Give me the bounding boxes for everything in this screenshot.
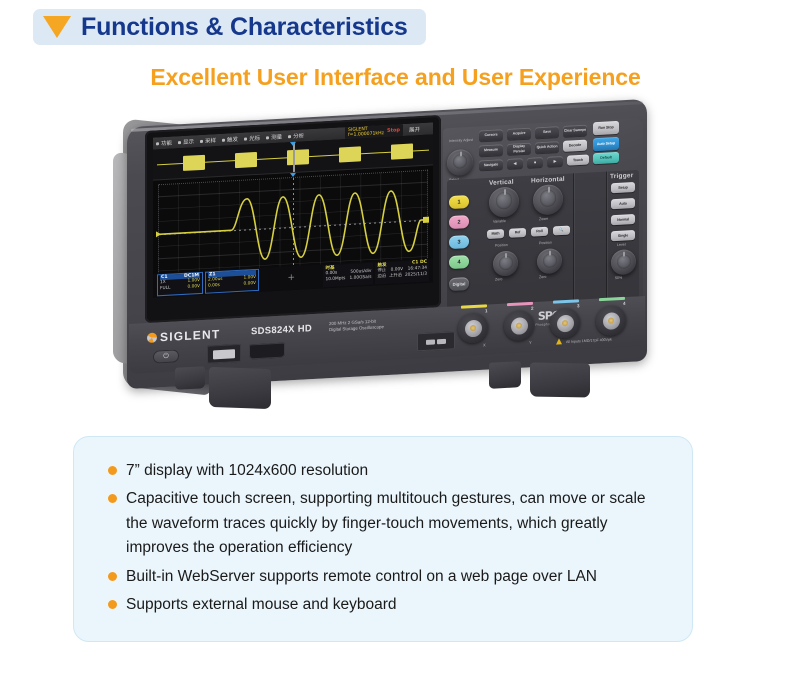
scope-menu-label: 触发 (227, 135, 238, 144)
screen-bezel: 功能 显示 采样 触发 光标 测量 分析 SIGLENT f=1.000071k… (145, 115, 441, 323)
trigger-state-label: Stop (387, 127, 400, 134)
run-stop-button[interactable]: Run Stop (593, 121, 619, 135)
bnc-connector-3[interactable] (550, 307, 580, 339)
clear-sweeps-button[interactable]: Clear Sweeps (563, 125, 587, 137)
bullet-dot-icon (108, 466, 117, 475)
trigger-type: 边沿 (377, 274, 386, 281)
trigger-single-button[interactable]: Single (611, 230, 635, 241)
knob-notch-icon (623, 251, 625, 257)
trigger-marker-icon (290, 173, 296, 177)
bullet-dot-icon (108, 572, 117, 581)
bnc-1-sublabel: X (483, 342, 486, 347)
menu-bullet-icon (266, 136, 269, 139)
bnc-ring (603, 312, 620, 330)
timebase-memdepth: 10.0Mpts (325, 277, 345, 285)
scope-menu-item-6[interactable]: 分析 (288, 131, 304, 140)
knob-notch-icon (505, 252, 507, 258)
menu-bullet-icon (200, 139, 203, 142)
bnc-input-note: All Inputs 1MΩ/17pF 400Vpk (566, 338, 612, 344)
channel-4-color-band (599, 297, 625, 301)
list-item: Built-in WebServer supports remote contr… (108, 565, 662, 589)
scope-menu-label: 光标 (249, 134, 260, 143)
channel1-settings-box[interactable]: C1 DC1M 1X 1.00V FULL 0.00V (157, 272, 203, 296)
overview-pulse (391, 144, 413, 160)
bnc-ring (557, 314, 574, 332)
trigger-row: 边沿 上升沿 2025/11/3 (377, 272, 427, 281)
scope-menu-item-2[interactable]: 采样 (200, 136, 216, 145)
bnc-connector-row: 1 X 2 Y 3 4 All Inputs 1MΩ/17pF 400Vpk (453, 296, 643, 364)
model-number: SDS824X HD (251, 323, 312, 337)
overview-pulse (235, 152, 257, 168)
scope-menu-item-0[interactable]: 功能 (156, 139, 172, 148)
list-item: Capacitive touch screen, supporting mult… (108, 487, 662, 560)
power-button[interactable]: ⏻ (153, 349, 179, 363)
bnc-3-number: 3 (577, 303, 580, 308)
search-button[interactable]: 🔍 (553, 226, 570, 236)
triangle-down-icon (43, 16, 71, 38)
channel-2-button[interactable]: 2 (449, 215, 469, 229)
measure-button[interactable]: Measure (479, 144, 503, 156)
bullet-dot-icon (108, 494, 117, 503)
next-button[interactable]: ▶ (547, 156, 563, 167)
horizontal-zoom-label: Zoom (539, 217, 548, 221)
cursor-crosshair-icon: + (261, 265, 321, 290)
aux-pin (437, 338, 446, 343)
channel-1-color-band (461, 304, 487, 308)
rear-foot-right (489, 361, 521, 389)
scope-run-state[interactable]: 展开 (409, 125, 430, 134)
navigate-button[interactable]: Navigate (479, 159, 503, 170)
zoom-row: 0.00s 0.00V (208, 281, 256, 290)
scope-menu-label: 显示 (183, 137, 194, 146)
channel-2-color-band (507, 302, 533, 306)
bnc-pin (516, 322, 522, 328)
bullet-dot-icon (108, 600, 117, 609)
power-icon: ⏻ (163, 353, 169, 360)
features-panel: 7” display with 1024x600 resolution Capa… (73, 436, 693, 642)
aux-pin (426, 339, 435, 344)
channel1-offset: 0.00V (187, 284, 200, 291)
channel-4-button[interactable]: 4 (449, 255, 469, 269)
trigger-level-50-label: 50% (615, 276, 622, 280)
bnc-connector-4[interactable] (596, 305, 626, 337)
timebase-box[interactable]: 时基 0.00s 500us/div 10.0Mpts 1.00GSa/s (323, 263, 373, 288)
prev-button[interactable]: ◀ (507, 158, 523, 169)
product-specs: 200 MHz 2 GSa/s 12-bit Digital Storage O… (329, 318, 384, 334)
scope-menu-item-5[interactable]: 测量 (266, 133, 282, 142)
quick-action-button[interactable]: Quick Action (535, 141, 559, 153)
math-button[interactable]: Math (487, 229, 504, 239)
overview-pulse (339, 146, 361, 162)
bnc-pin (562, 320, 568, 326)
list-item: Supports external mouse and keyboard (108, 593, 662, 617)
bnc-2-sublabel: Y (529, 340, 532, 345)
bnc-pin (470, 325, 476, 331)
scope-menu-label: 功能 (161, 139, 172, 148)
roll-button[interactable]: Roll (531, 227, 548, 237)
list-item-text: Capacitive touch screen, supporting mult… (126, 490, 646, 556)
menu-bullet-icon (222, 138, 225, 141)
brand-name: SIGLENT (160, 327, 220, 344)
product-photo-oscilloscope: 功能 显示 采样 触发 光标 测量 分析 SIGLENT f=1.000071k… (105, 105, 665, 425)
tilt-stand-right (530, 362, 590, 397)
warning-triangle-icon (556, 338, 562, 344)
knob-notch-icon (549, 250, 551, 256)
section-header-badge: Functions & Characteristics (33, 9, 426, 45)
channel1-bandwidth: FULL (160, 286, 170, 293)
timebase-samplerate: 1.00GSa/s (350, 275, 372, 283)
zoom-offset: 0.00V (243, 281, 256, 288)
bnc-4-number: 4 (623, 301, 626, 306)
usb-contact (213, 349, 235, 359)
list-item: 7” display with 1024x600 resolution (108, 459, 662, 483)
menu-bullet-icon (178, 141, 181, 144)
vertical-variable-label: Variable (493, 219, 506, 224)
trigger-level-label: Level (617, 243, 626, 247)
touch-button[interactable]: Touch (567, 155, 589, 166)
save-button[interactable]: Save (535, 126, 559, 138)
vertical-section-label: Vertical (489, 179, 514, 187)
page-title: Functions & Characteristics (81, 13, 408, 42)
clock-date: 2025/11/3 (405, 272, 427, 280)
cursors-button[interactable]: Cursors (479, 129, 503, 141)
vertical-position-label: Position (495, 243, 508, 248)
menu-bullet-icon (156, 142, 159, 145)
bnc-connector-2[interactable] (504, 310, 534, 342)
siglent-mark-icon (147, 332, 157, 343)
timebase-row: 10.0Mpts 1.00GSa/s (325, 275, 371, 284)
bnc-connector-1[interactable] (458, 312, 488, 344)
rear-foot-left (175, 366, 205, 390)
scope-menu-item-3[interactable]: 触发 (222, 135, 238, 144)
overview-pulse (287, 149, 309, 165)
trigger-slope: 上升沿 (389, 274, 402, 281)
zoom-delay: 0.00s (208, 283, 220, 290)
trigger-setup-button[interactable]: Setup (611, 182, 635, 193)
bnc-2-number: 2 (531, 306, 534, 311)
bnc-ring (465, 319, 482, 337)
scope-menu-item-1[interactable]: 显示 (178, 137, 194, 146)
trigger-auto-button[interactable]: Auto (611, 198, 635, 209)
horizontal-zero-label: Zero (539, 275, 546, 279)
trigger-normal-button[interactable]: Normal (611, 214, 635, 225)
zoom-settings-box[interactable]: Z1 2.00us 1.00V 0.00s 0.00V (205, 269, 259, 294)
acquire-button[interactable]: Acquire (507, 128, 531, 140)
overview-pulse (183, 155, 205, 171)
trigger-section-label: Trigger (610, 172, 633, 180)
channel-1-button[interactable]: 1 (449, 195, 469, 209)
knob-notch-icon (548, 186, 550, 193)
list-item-text: Supports external mouse and keyboard (126, 596, 397, 613)
channel-3-color-band (553, 299, 579, 303)
menu-bullet-icon (288, 135, 291, 138)
default-button[interactable]: Default (593, 152, 619, 164)
features-list: 7” display with 1024x600 resolution Capa… (108, 459, 662, 618)
section-subtitle: Excellent User Interface and User Experi… (0, 64, 791, 91)
channel1-row: FULL 0.00V (160, 284, 200, 292)
vertical-zero-label: Zero (495, 277, 502, 281)
display-persist-button[interactable]: Display Persist (507, 143, 531, 155)
scope-menu-label: 分析 (293, 131, 304, 140)
brand-logo: SIGLENT (147, 327, 220, 345)
channel-3-button[interactable]: 3 (449, 235, 469, 249)
hdmi-port (249, 343, 285, 360)
digital-button[interactable]: Digital (449, 277, 469, 291)
list-item-text: Built-in WebServer supports remote contr… (126, 568, 597, 585)
knob-notch-icon (460, 151, 462, 157)
trigger-position-icon (290, 142, 296, 146)
usb-port (207, 344, 241, 364)
knob-notch-icon (504, 189, 506, 196)
auto-setup-button[interactable]: Auto Setup (593, 137, 619, 151)
bnc-pin (608, 317, 614, 323)
scope-menu-label: 测量 (271, 133, 282, 142)
trigger-box[interactable]: 触发 C1 DC 停止 0.00V 16:47:34 边沿 上升沿 2025/1… (375, 260, 429, 285)
overview-position-marker[interactable] (293, 142, 295, 172)
menu-bullet-icon (244, 137, 247, 140)
scope-menu-item-4[interactable]: 光标 (244, 134, 260, 143)
list-item-text: 7” display with 1024x600 resolution (126, 462, 368, 479)
scope-menu-label: 采样 (205, 136, 216, 145)
tilt-stand-left (209, 367, 271, 409)
aux-output-port (417, 331, 455, 351)
ref-button[interactable]: Ref (509, 228, 526, 238)
bnc-ring (511, 317, 528, 335)
horizontal-position-label: Position (539, 241, 552, 246)
decode-button[interactable]: Decode (563, 140, 587, 152)
stop-button[interactable]: ■ (527, 157, 543, 168)
bnc-1-number: 1 (485, 308, 488, 313)
oscilloscope-screen: 功能 显示 采样 触发 光标 测量 分析 SIGLENT f=1.000071k… (153, 122, 433, 297)
